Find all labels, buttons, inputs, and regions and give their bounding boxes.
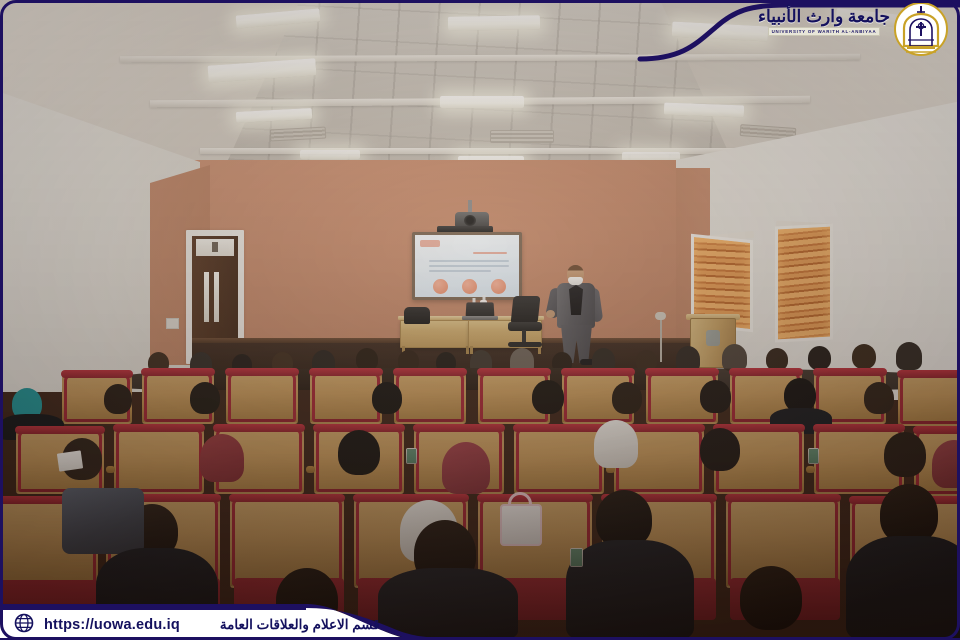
audience-head <box>104 384 132 414</box>
air-vent <box>490 130 554 143</box>
mobile-phone[interactable] <box>808 448 819 464</box>
laptop-base <box>462 316 498 320</box>
slide-accent-line <box>473 252 507 254</box>
university-emblem-icon <box>894 2 948 56</box>
slide-text-line <box>429 265 509 267</box>
handout-paper <box>57 450 83 471</box>
laptop[interactable] <box>466 302 495 317</box>
office-chair-back[interactable] <box>511 296 541 324</box>
auditorium-seat[interactable] <box>394 370 466 424</box>
audience-head <box>864 382 894 414</box>
seat-armrest <box>806 466 815 473</box>
university-name-arabic: جامعة وارث الأنبياء <box>758 8 890 25</box>
audience-shoulders <box>846 536 960 640</box>
door-transom-window <box>196 239 234 256</box>
wall-switch-plate[interactable] <box>166 318 179 329</box>
footer-content: https://uowa.edu.iq قسم الاعلام والعلاقا… <box>0 610 520 640</box>
audience-head <box>740 566 802 630</box>
projection-screen <box>415 235 519 297</box>
slide-text-line <box>429 260 509 262</box>
event-photo-card: جامعة وارث الأنبياء UNIVERSITY OF WARITH… <box>0 0 960 640</box>
audience-head <box>852 344 876 369</box>
university-name-english: UNIVERSITY OF WARITH AL-ANBIYAA <box>768 27 881 36</box>
backpack <box>62 488 144 554</box>
seat-armrest <box>306 466 315 473</box>
audience-head-hijab <box>200 434 244 482</box>
presenter-shirt <box>569 285 583 315</box>
slide-icon-circle <box>433 279 448 294</box>
audience-head-hijab <box>896 342 922 370</box>
door-glass-slit <box>214 272 219 322</box>
globe-icon <box>14 613 34 638</box>
presenter-hand <box>546 310 555 318</box>
auditorium-seat[interactable] <box>114 426 204 494</box>
mobile-phone[interactable] <box>406 448 417 464</box>
window-frame-right <box>775 223 833 342</box>
ceiling-light-panel <box>300 150 360 159</box>
event-photograph <box>0 0 960 640</box>
slide-title-block <box>420 240 440 247</box>
ceiling-light-panel <box>448 15 540 31</box>
audience-head-hijab <box>442 442 490 494</box>
ceiling-light-panel <box>440 96 524 108</box>
audience-head <box>372 382 402 414</box>
audience-head <box>190 382 220 414</box>
audience-head <box>532 380 564 414</box>
audience-head <box>700 380 731 413</box>
audience-head <box>612 382 642 414</box>
chair-behind-desk[interactable] <box>404 307 430 324</box>
audience-shoulders <box>566 540 694 640</box>
office-chair-base <box>508 342 542 347</box>
handbag <box>500 504 542 546</box>
audience-head <box>884 432 926 477</box>
audience-head <box>880 484 938 544</box>
audience-head <box>338 430 380 475</box>
university-wordmark: جامعة وارث الأنبياء UNIVERSITY OF WARITH… <box>768 4 880 40</box>
auditorium-seat[interactable] <box>226 370 298 424</box>
website-url[interactable]: https://uowa.edu.iq <box>44 617 180 633</box>
seat-armrest <box>106 466 115 473</box>
audience-head <box>808 346 831 370</box>
podium-emblem <box>706 330 720 346</box>
audience-head-hijab <box>722 344 747 371</box>
microphone-head <box>655 312 666 320</box>
slide-icon-circle <box>491 279 506 294</box>
projection-screen-frame <box>412 232 522 300</box>
audience-head <box>784 378 816 412</box>
department-name: قسم الاعلام والعلاقات العامة <box>220 617 380 633</box>
auditorium-seat[interactable] <box>898 372 960 426</box>
desk-leg <box>538 346 541 354</box>
slide-icon-circle <box>462 279 477 294</box>
audience-head <box>700 428 740 471</box>
mobile-phone[interactable] <box>570 548 583 567</box>
face-mask-icon <box>568 277 583 285</box>
microphone-stand <box>660 318 662 362</box>
front-desk-left <box>400 320 470 348</box>
door-glass-slit <box>204 272 209 322</box>
audience-head-hijab <box>594 420 638 468</box>
slide-text-line <box>429 270 491 272</box>
auditorium-seat[interactable] <box>514 426 604 494</box>
